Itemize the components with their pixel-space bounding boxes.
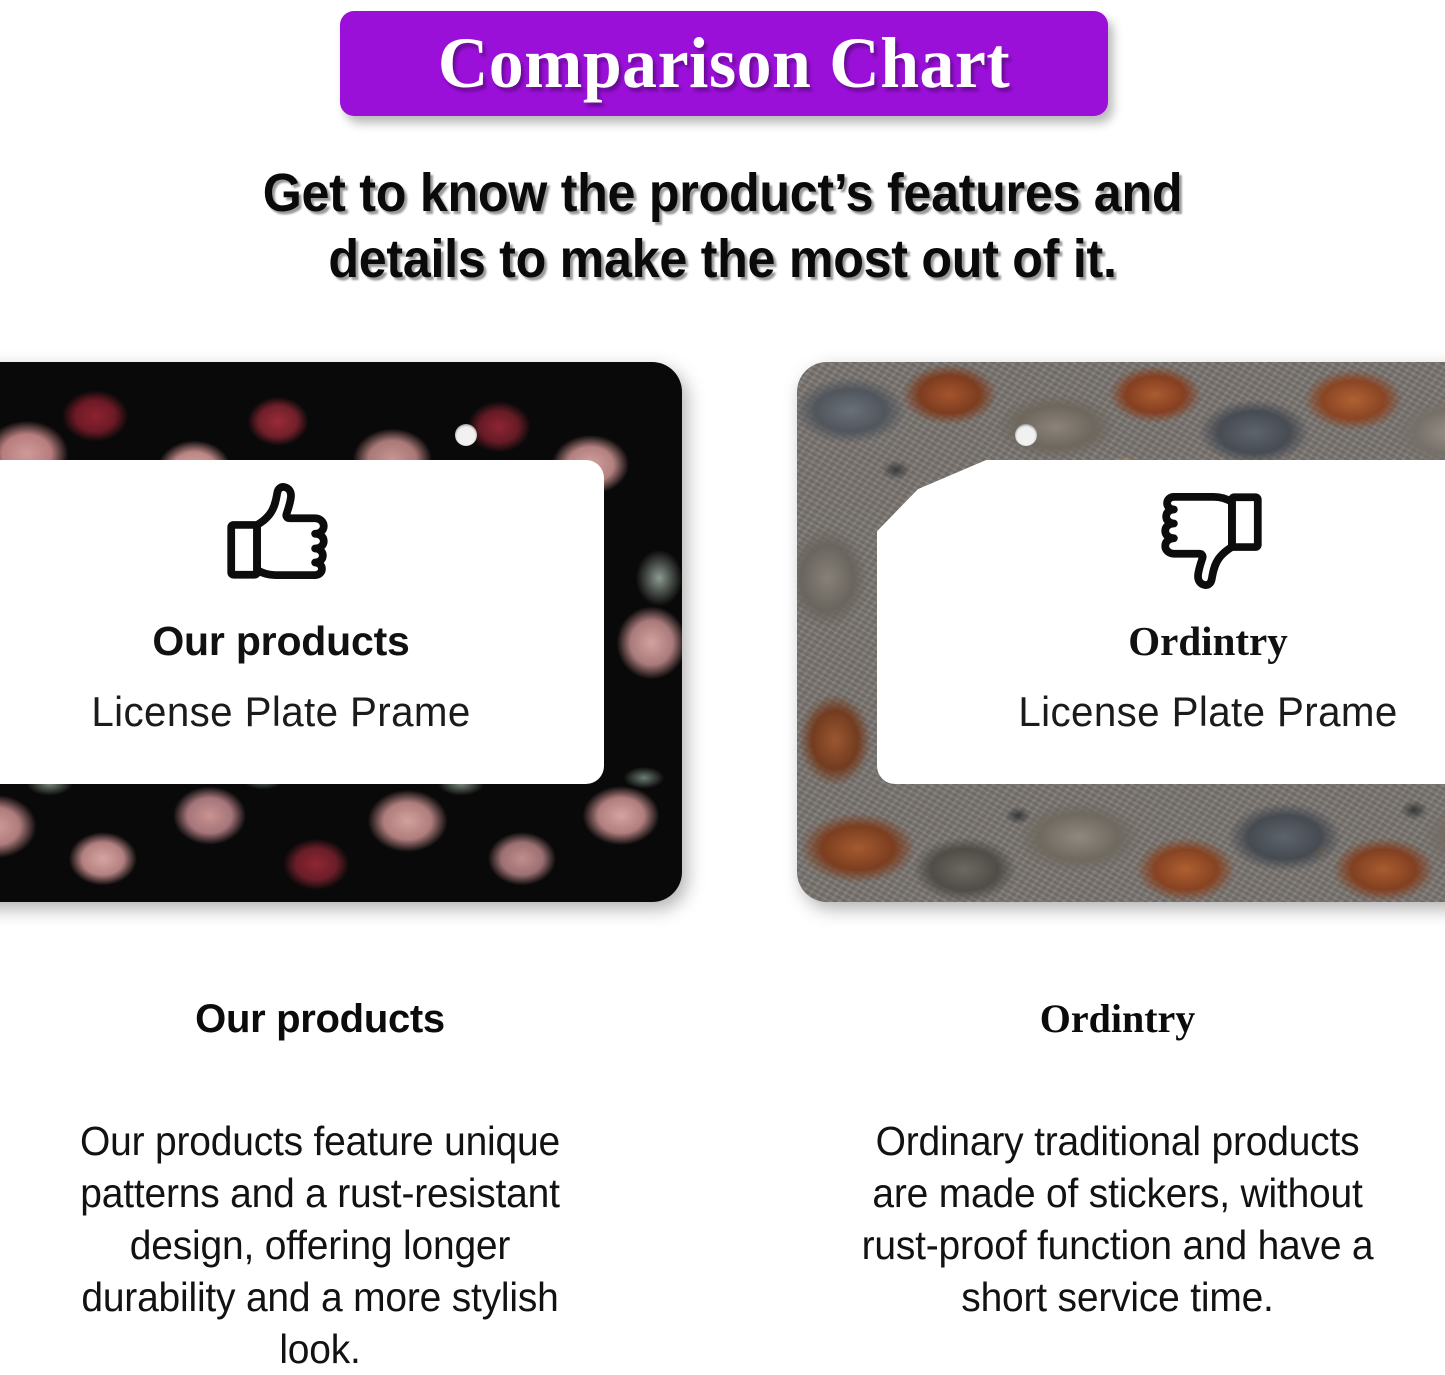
our-product-window-content: Our products License Plate Prame	[0, 480, 682, 736]
our-product-plate-frame: Our products License Plate Prame	[0, 362, 682, 902]
thumbs-up-icon	[222, 480, 340, 592]
ordinary-product-heading: Ordintry	[790, 995, 1445, 1043]
subtitle-line-1: Get to know the product’s features and	[51, 160, 1395, 226]
mounting-hole	[1015, 424, 1037, 446]
ordinary-product-brand-name: Ordintry	[857, 618, 1445, 664]
subtitle-line-2: details to make the most out of it.	[51, 226, 1395, 292]
ordinary-product-description: Ordinary traditional products are made o…	[806, 1115, 1428, 1323]
comparison-chart-banner: Comparison Chart	[340, 11, 1108, 116]
ordinary-product-window-content: Ordintry License Plate Prame	[857, 480, 1445, 736]
ordinary-product-plate-caption: License Plate Prame	[871, 688, 1445, 736]
page-title: Comparison Chart	[438, 22, 1010, 105]
subtitle: Get to know the product’s features and d…	[0, 160, 1445, 292]
our-product-brand-name: Our products	[0, 618, 682, 664]
thumbs-down-icon	[1149, 480, 1267, 592]
mounting-hole	[455, 424, 477, 446]
ordinary-product-plate-frame: Ordintry License Plate Prame	[797, 362, 1445, 902]
our-product-plate-caption: License Plate Prame	[0, 688, 666, 736]
our-product-heading: Our products	[0, 995, 640, 1043]
ordinary-product-description-column: Ordintry Ordinary traditional products a…	[790, 995, 1445, 1323]
our-product-description-column: Our products Our products feature unique…	[0, 995, 640, 1375]
our-product-description: Our products feature unique patterns and…	[16, 1115, 624, 1375]
